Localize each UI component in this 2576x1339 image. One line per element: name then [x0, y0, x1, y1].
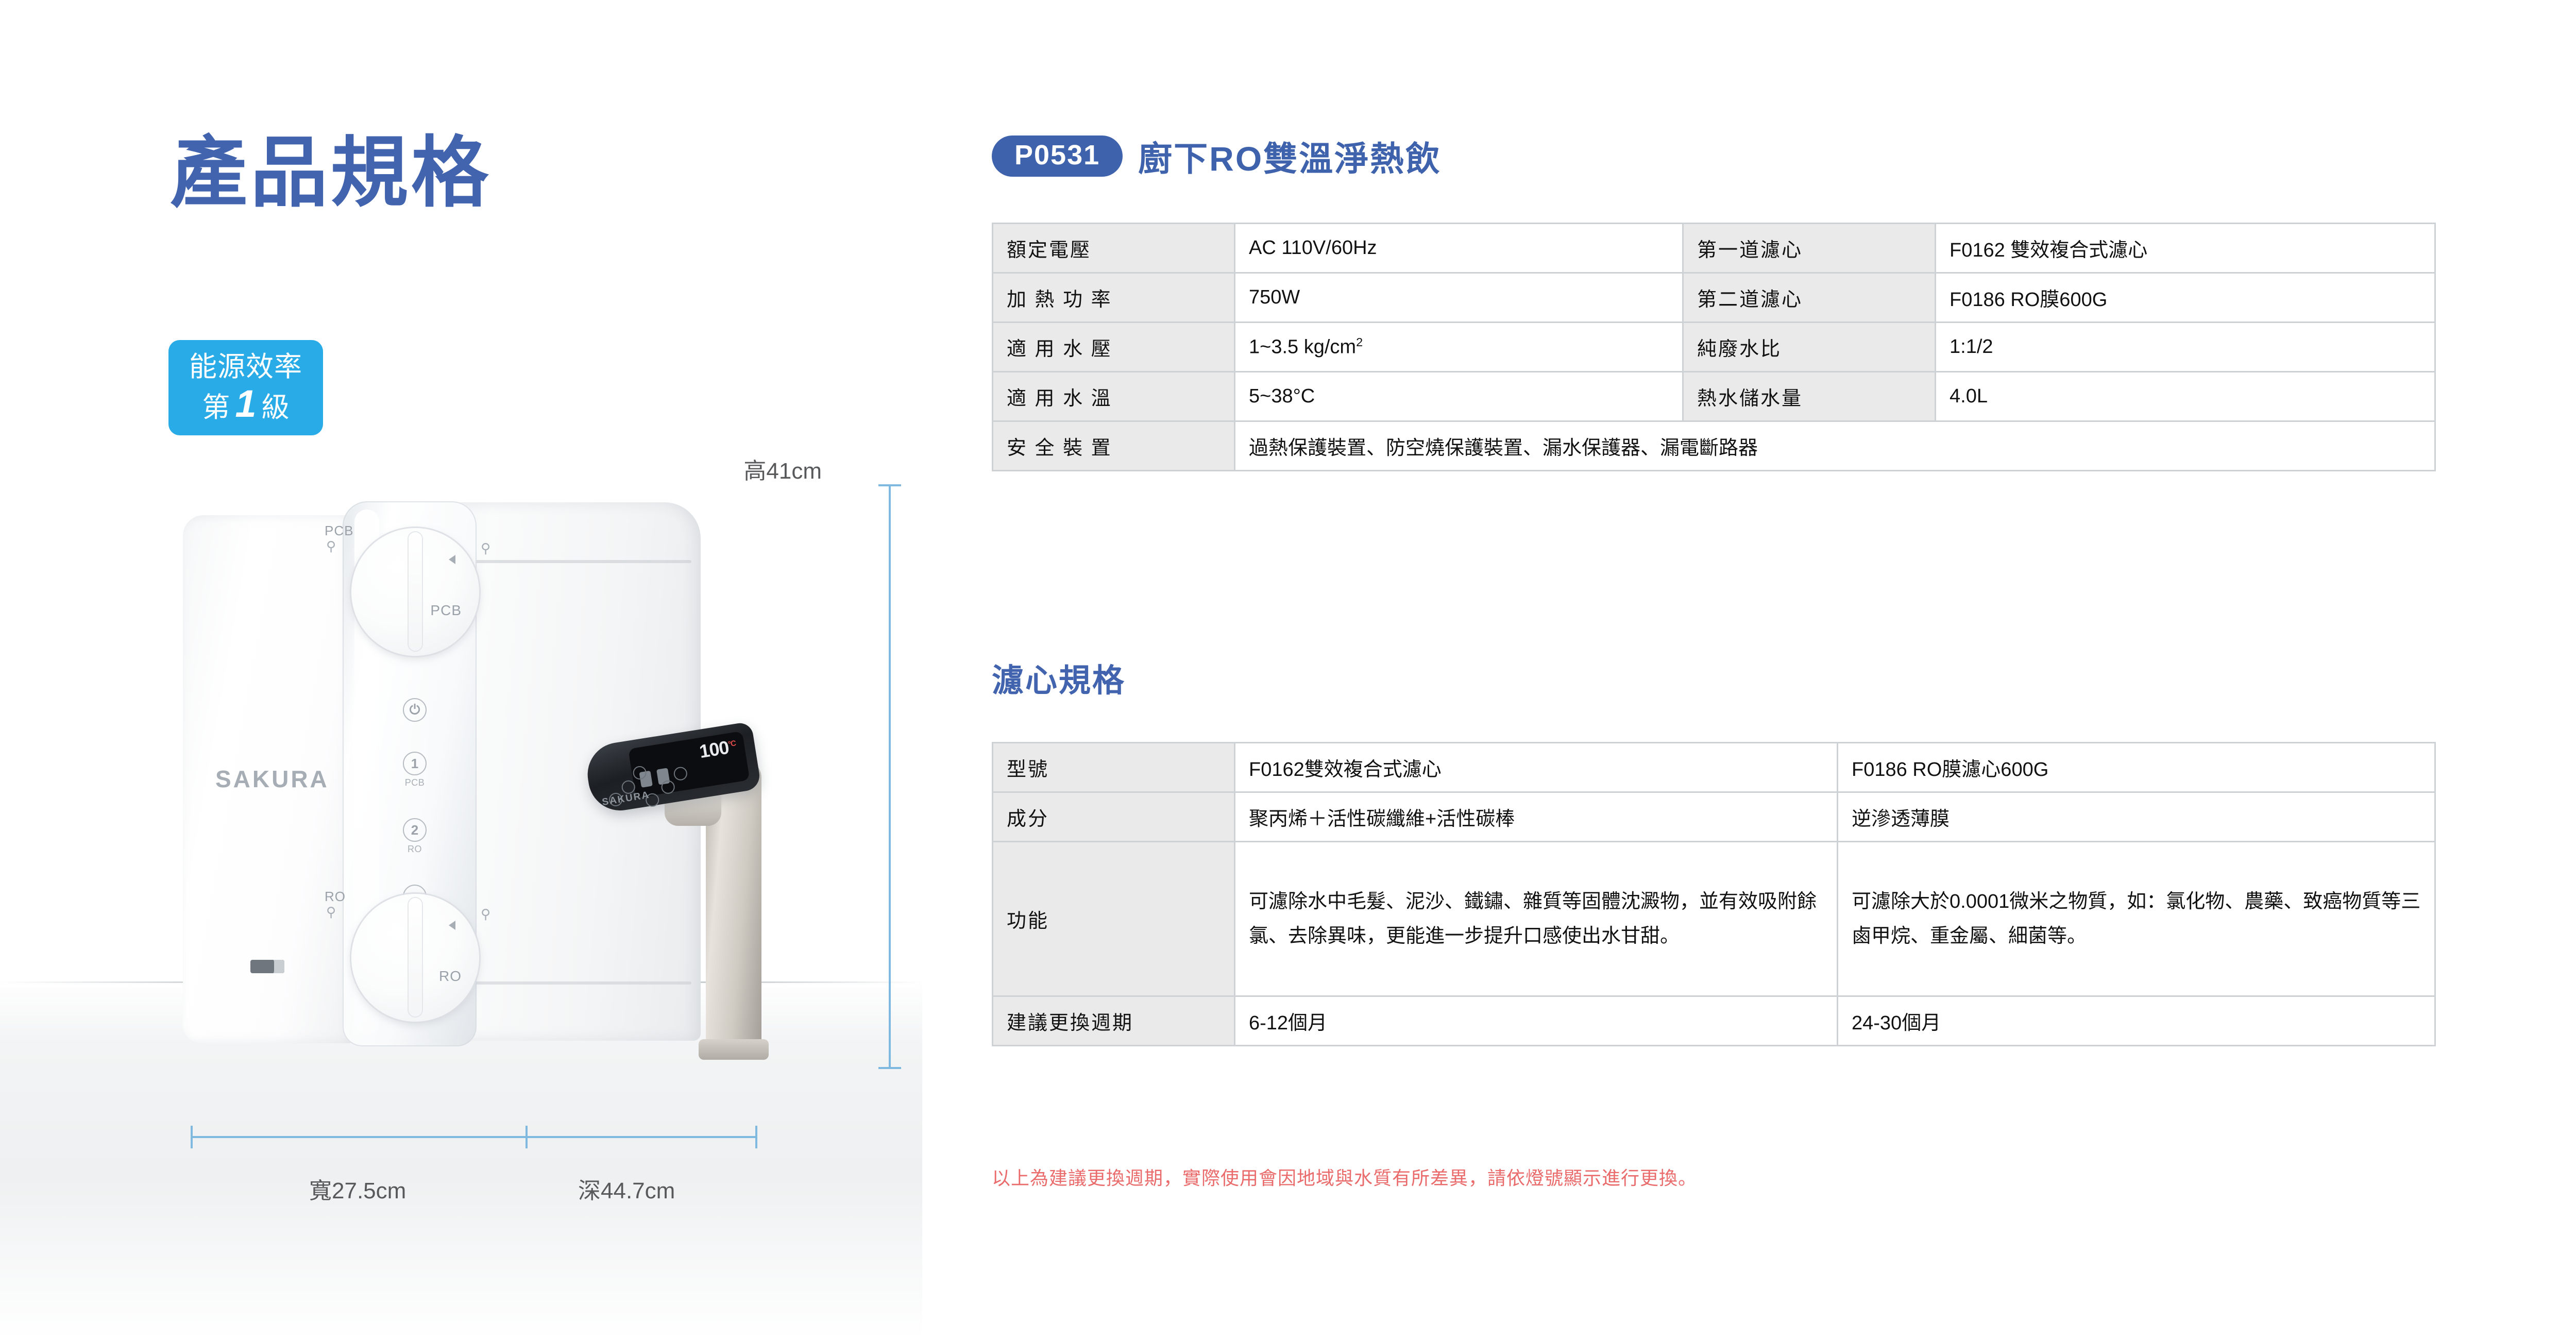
status-indicator-stack: ⏻ 1 PCB 2 RO ◌ [384, 698, 446, 908]
status-1-icon: 1 [403, 752, 427, 775]
table-row: 加 熱 功 率 750W 第二道濾心 F0186 RO膜600G [993, 273, 2435, 323]
status-power: ⏻ [403, 698, 427, 722]
height-dimension-line [889, 484, 891, 1069]
brand-logo: SAKURA [215, 765, 329, 793]
dial-pcb-label: PCB [430, 602, 462, 619]
filter-col2: 24-30個月 [1838, 996, 2435, 1046]
energy-efficiency-badge: 能源效率 第 1 級 [168, 340, 323, 435]
energy-badge-line1: 能源效率 [189, 352, 302, 382]
table-row-function: 功能 可濾除水中毛髮、泥沙、鐵鏽、雜質等固體沈澱物，並有效吸附餘氯、去除異味，更… [993, 842, 2435, 996]
filter-dial-pcb[interactable]: PCB [351, 528, 479, 656]
filter-col2: F0186 RO膜濾心600G [1838, 743, 2435, 792]
main-spec-table: 額定電壓 AC 110V/60Hz 第一道濾心 F0162 雙效複合式濾心 加 … [992, 223, 2436, 471]
lock-icon: ⚲ [326, 539, 335, 552]
spec-label: 加 熱 功 率 [993, 273, 1235, 323]
filter-col1: 6-12個月 [1235, 996, 1838, 1046]
filter-label: 功能 [993, 842, 1235, 996]
filter-label: 成分 [993, 792, 1235, 842]
dial-pointer-icon-2 [449, 921, 455, 930]
status-filter-1: 1 PCB [403, 752, 427, 788]
vent-slot [250, 960, 284, 973]
dial-pointer-icon [449, 555, 455, 564]
width-cap-middle [526, 1126, 528, 1148]
filter-label: 型號 [993, 743, 1235, 792]
filter-col1: F0162雙效複合式濾心 [1235, 743, 1838, 792]
dial-ro-label: RO [439, 968, 462, 985]
safety-label: 安 全 裝 置 [993, 421, 1235, 471]
replacement-footnote: 以上為建議更換週期，實際使用會因地域與水質有所差異，請依燈號顯示進行更換。 [992, 1163, 1697, 1190]
faucet-base [699, 1039, 769, 1060]
spec-value: AC 110V/60Hz [1235, 224, 1683, 273]
filter-col2: 可濾除大於0.0001微米之物質，如：氯化物、農藥、致癌物質等三鹵甲烷、重金屬、… [1838, 842, 2435, 996]
spec-value-2: 1:1/2 [1936, 323, 2435, 372]
energy-badge-unit: 級 [262, 384, 290, 425]
faucet-temp-unit: °C [727, 739, 736, 749]
touch-temp-icon[interactable] [673, 766, 688, 782]
width-dimension-line [191, 1136, 757, 1138]
unlock-icon: ⚲ [481, 541, 490, 554]
spec-label-2: 純廢水比 [1683, 323, 1936, 372]
energy-badge-word: 第 [202, 384, 230, 425]
spec-value-2: 4.0L [1936, 372, 2435, 421]
filter-label: 建議更換週期 [993, 996, 1235, 1046]
table-row: 成分 聚丙烯＋活性碳纖維+活性碳棒 逆滲透薄膜 [993, 792, 2435, 842]
lock-icon-2: ⚲ [326, 905, 335, 918]
table-row-safety: 安 全 裝 置 過熱保護裝置、防空燒保護裝置、漏水保護器、漏電斷路器 [993, 421, 2435, 471]
status-2-icon: 2 [403, 818, 427, 842]
spec-value-2: F0186 RO膜600G [1936, 273, 2435, 323]
faucet-temp-value: 100 [698, 737, 730, 762]
status-2-label: RO [408, 844, 422, 855]
height-dimension-label: 高41cm [743, 452, 822, 485]
status-filter-2: 2 RO [403, 818, 427, 855]
product-image: PCB ⚲ ⚲ PCB ⏻ 1 PCB 2 RO ◌ RO ⚲ ⚲ [170, 492, 814, 1090]
spec-value: 1~3.5 kg/cm2 [1235, 323, 1683, 372]
width-cap-left [191, 1126, 193, 1148]
spec-value: 750W [1235, 273, 1683, 323]
table-row: 型號 F0162雙效複合式濾心 F0186 RO膜濾心600G [993, 743, 2435, 792]
product-code-badge: P0531 [992, 135, 1123, 177]
dial-grip-2 [409, 898, 422, 1016]
unlock-icon-2: ⚲ [481, 907, 490, 920]
dial-grip [409, 532, 422, 651]
filter-dial-ro[interactable]: RO [351, 894, 479, 1022]
page-title: 產品規格 [170, 134, 492, 211]
filter-col1: 可濾除水中毛髮、泥沙、鐵鏽、雜質等固體沈澱物，並有效吸附餘氯、去除異味，更能進一… [1235, 842, 1838, 996]
product-name-title: 廚下RO雙溫淨熱飲 [1138, 131, 1441, 181]
width-dimension-label: 寬27.5cm [309, 1172, 406, 1205]
touch-volume-icon[interactable] [660, 779, 676, 795]
spec-label-2: 熱水儲水量 [1683, 372, 1936, 421]
dial-pcb-tag: PCB [325, 523, 353, 539]
table-row: 適 用 水 溫 5~38°C 熱水儲水量 4.0L [993, 372, 2435, 421]
spec-value: 5~38°C [1235, 372, 1683, 421]
width-cap-right [755, 1126, 757, 1148]
pressure-exponent: 2 [1356, 335, 1363, 349]
depth-dimension-label: 深44.7cm [578, 1172, 675, 1205]
table-row: 額定電壓 AC 110V/60Hz 第一道濾心 F0162 雙效複合式濾心 [993, 224, 2435, 273]
spec-label-2: 第二道濾心 [1683, 273, 1936, 323]
table-row: 建議更換週期 6-12個月 24-30個月 [993, 996, 2435, 1046]
filter-spec-table: 型號 F0162雙效複合式濾心 F0186 RO膜濾心600G 成分 聚丙烯＋活… [992, 742, 2436, 1046]
dial-ro-tag: RO [325, 889, 346, 905]
faucet-temperature-readout: 100°C [698, 735, 738, 762]
power-icon: ⏻ [403, 698, 427, 722]
safety-value: 過熱保護裝置、防空燒保護裝置、漏水保護器、漏電斷路器 [1235, 421, 2435, 471]
touch-power-icon[interactable] [632, 765, 648, 781]
product-spec-page: 產品規格 能源效率 第 1 級 PCB ⚲ ⚲ PCB ⏻ 1 PCB [0, 0, 2576, 1339]
spec-label: 適 用 水 溫 [993, 372, 1235, 421]
height-cap-bottom [878, 1067, 901, 1069]
filter-col1: 聚丙烯＋活性碳纖維+活性碳棒 [1235, 792, 1838, 842]
spec-label: 額定電壓 [993, 224, 1235, 273]
spec-value-2: F0162 雙效複合式濾心 [1936, 224, 2435, 273]
table-row: 適 用 水 壓 1~3.5 kg/cm2 純廢水比 1:1/2 [993, 323, 2435, 372]
energy-badge-grade-row: 第 1 級 [202, 384, 289, 425]
spec-label-2: 第一道濾心 [1683, 224, 1936, 273]
filter-section-title: 濾心規格 [992, 654, 1126, 701]
status-1-label: PCB [405, 777, 425, 788]
filter-col2: 逆滲透薄膜 [1838, 792, 2435, 842]
energy-badge-grade: 1 [235, 387, 256, 421]
spec-label: 適 用 水 壓 [993, 323, 1235, 372]
spec-section-header: P0531 廚下RO雙溫淨熱飲 [992, 131, 1441, 181]
pressure-value: 1~3.5 kg/cm [1249, 336, 1356, 358]
